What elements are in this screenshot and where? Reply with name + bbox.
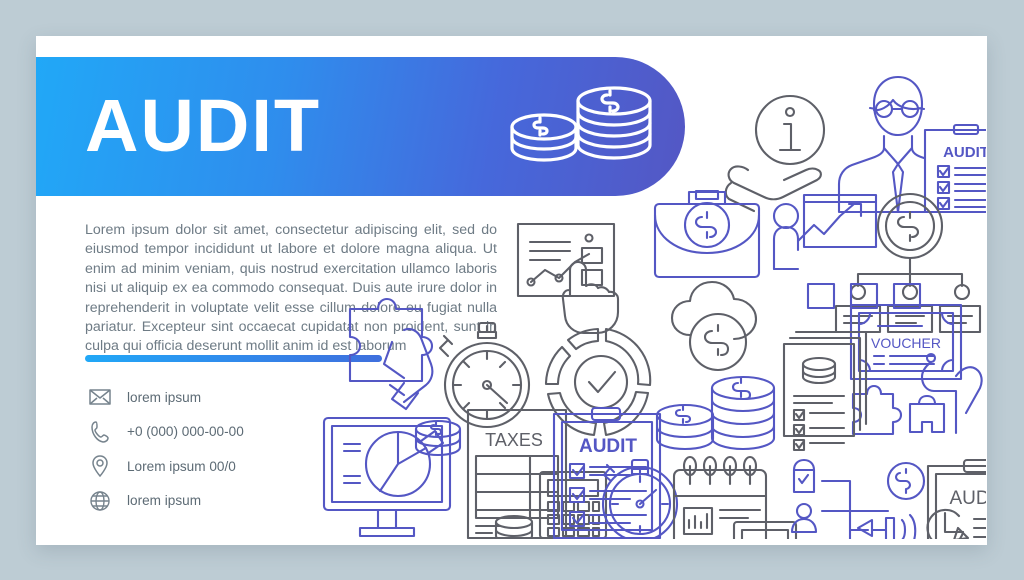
info-hand-icon [726, 96, 824, 211]
contact-label: lorem ipsum [117, 390, 201, 405]
taxes-label: TAXES [485, 430, 543, 450]
checklist-documents-icon [784, 332, 866, 450]
puzzle-hand-icon [350, 299, 432, 409]
audit-clipboard-icon: AUDIT [925, 125, 986, 212]
envelope-icon [83, 382, 117, 412]
phone-icon [83, 417, 117, 447]
cloud-dollar-icon [672, 282, 756, 370]
page-title: AUDIT [85, 83, 321, 169]
stopwatch-icon [440, 323, 529, 427]
auditor-person-icon [839, 77, 933, 212]
calendar-calculator-icon [674, 457, 796, 539]
voucher-hand-icon: VOUCHER [851, 305, 982, 433]
taxes-calculator-icon: TAXES [468, 410, 606, 539]
globe-icon [83, 486, 117, 516]
contact-label: +0 (000) 000-00-00 [117, 424, 244, 439]
voucher-label: VOUCHER [871, 335, 941, 351]
contact-label: Lorem ipsum 00/0 [117, 459, 236, 474]
presenter-chart-icon [774, 195, 876, 269]
location-pin-icon [83, 451, 117, 481]
audit-illustration: AUDIT [318, 52, 986, 539]
coin-stacks-mid-icon [657, 377, 774, 449]
audit-report-clipboard-icon: AUDIT [927, 460, 986, 539]
network-nodes-icon [786, 460, 924, 539]
chart-board-pointer-icon [518, 224, 618, 333]
contact-label: lorem ipsum [117, 493, 201, 508]
poster-canvas: AUDIT Lorem ipsum dolor sit amet, consec… [0, 0, 1024, 580]
clipboard-title: AUDIT [943, 144, 986, 161]
clipboard-title: AUDIT [579, 436, 637, 457]
dollar-coin-orgchart-icon [836, 194, 980, 332]
briefcase-dollar-icon [655, 191, 759, 277]
clipboard-title: AUDIT [950, 488, 987, 509]
